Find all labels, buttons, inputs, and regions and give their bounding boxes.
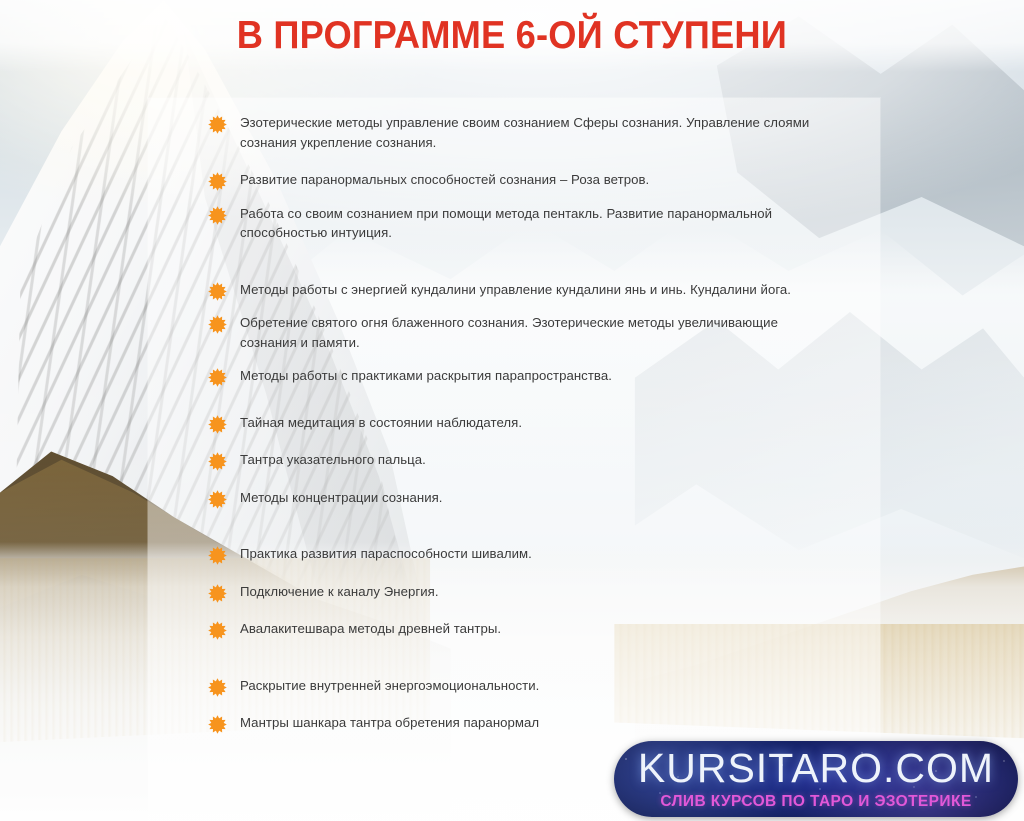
list-item: Обретение святого огня блаженного сознан…: [208, 313, 860, 352]
list-item-text: Методы концентрации сознания.: [240, 488, 443, 508]
list-item-text: Подключение к каналу Энергия.: [240, 582, 439, 602]
list-item: Раскрытие внутренней энергоэмоциональнос…: [208, 676, 860, 696]
watermark-site-name: KURSITARO.COM: [638, 748, 994, 789]
sunburst-bullet-icon: [208, 368, 227, 387]
list-item: Мантры шанкара тантра обретения паранорм…: [208, 713, 860, 733]
sunburst-bullet-icon: [208, 172, 227, 191]
list-item: Эзотерические методы управление своим со…: [208, 113, 860, 152]
sunburst-bullet-icon: [208, 584, 227, 603]
list-item-text: Развитие паранормальных способностей соз…: [240, 170, 649, 190]
watermark-tagline: СЛИВ КУРСОВ ПО ТАРО И ЭЗОТЕРИКЕ: [660, 794, 971, 810]
list-item-text: Методы работы с энергией кундалини управ…: [240, 280, 791, 300]
sunburst-bullet-icon: [208, 282, 227, 301]
list-item-text: Тантра указательного пальца.: [240, 450, 426, 470]
content-panel: Эзотерические методы управление своим со…: [148, 98, 880, 821]
list-item: Работа со своим сознанием при помощи мет…: [208, 204, 860, 243]
list-item-text: Эзотерические методы управление своим со…: [240, 113, 820, 152]
poster-canvas: В ПРОГРАММЕ 6-ОЙ СТУПЕНИ Эзотерические м…: [0, 0, 1024, 821]
list-item-text: Обретение святого огня блаженного сознан…: [240, 313, 820, 352]
page-title: В ПРОГРАММЕ 6-ОЙ СТУПЕНИ: [237, 14, 787, 58]
list-item: Практика развития параспособности шивали…: [208, 544, 860, 564]
list-item-text: Методы работы с практиками раскрытия пар…: [240, 366, 612, 386]
list-item: Тантра указательного пальца.: [208, 450, 860, 470]
list-item-text: Работа со своим сознанием при помощи мет…: [240, 204, 820, 243]
program-items-list: Эзотерические методы управление своим со…: [208, 113, 860, 733]
sunburst-bullet-icon: [208, 490, 227, 509]
list-item-text: Авалакитешвара методы древней тантры.: [240, 619, 501, 639]
list-item-text: Тайная медитация в состоянии наблюдателя…: [240, 413, 522, 433]
sunburst-bullet-icon: [208, 315, 227, 334]
list-item-text: Мантры шанкара тантра обретения паранорм…: [240, 713, 539, 733]
sunburst-bullet-icon: [208, 415, 227, 434]
sunburst-bullet-icon: [208, 621, 227, 640]
sunburst-bullet-icon: [208, 206, 227, 225]
list-item: Методы работы с энергией кундалини управ…: [208, 280, 860, 300]
list-item-text: Практика развития параспособности шивали…: [240, 544, 532, 564]
sunburst-bullet-icon: [208, 115, 227, 134]
title-band: В ПРОГРАММЕ 6-ОЙ СТУПЕНИ: [0, 0, 1024, 72]
list-item: Авалакитешвара методы древней тантры.: [208, 619, 860, 639]
list-item: Методы работы с практиками раскрытия пар…: [208, 366, 860, 386]
watermark-badge[interactable]: KURSITARO.COM СЛИВ КУРСОВ ПО ТАРО И ЭЗОТ…: [614, 741, 1018, 817]
sunburst-bullet-icon: [208, 715, 227, 734]
list-item: Тайная медитация в состоянии наблюдателя…: [208, 413, 860, 433]
sunburst-bullet-icon: [208, 678, 227, 697]
list-item: Подключение к каналу Энергия.: [208, 582, 860, 602]
list-item: Развитие паранормальных способностей соз…: [208, 170, 860, 190]
list-item-text: Раскрытие внутренней энергоэмоциональнос…: [240, 676, 539, 696]
sunburst-bullet-icon: [208, 452, 227, 471]
list-item: Методы концентрации сознания.: [208, 488, 860, 508]
sunburst-bullet-icon: [208, 546, 227, 565]
